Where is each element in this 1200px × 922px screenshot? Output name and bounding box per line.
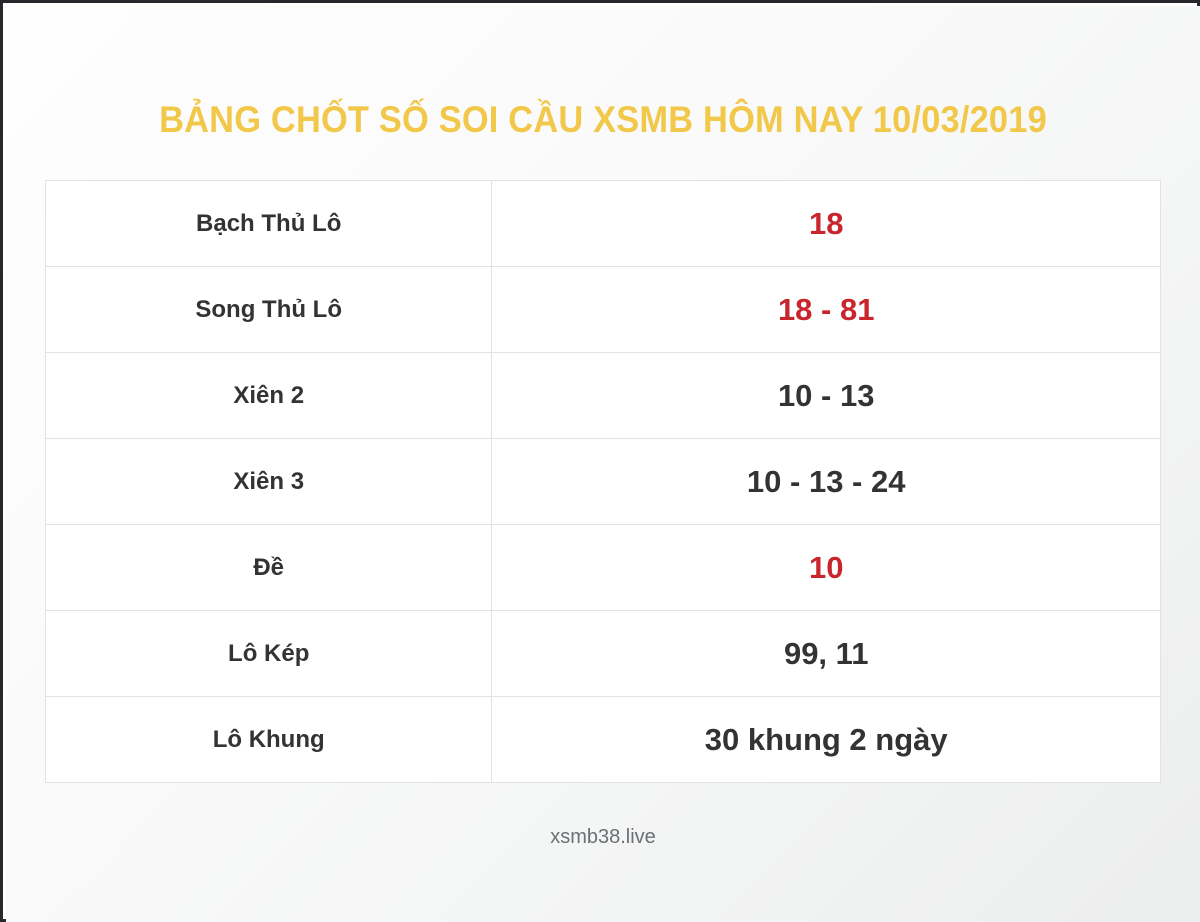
row-label: Xiên 2 — [233, 382, 304, 409]
row-label-cell: Xiên 3 — [46, 439, 492, 525]
row-value: 10 - 13 - 24 — [747, 464, 906, 499]
table-row: Đề10 — [46, 525, 1161, 611]
row-value: 18 — [809, 206, 843, 241]
row-value: 30 khung 2 ngày — [705, 722, 948, 757]
row-value-cell: 18 - 81 — [492, 267, 1161, 353]
row-label-cell: Lô Kép — [46, 611, 492, 697]
row-value-cell: 10 — [492, 525, 1161, 611]
row-value-cell: 18 — [492, 181, 1161, 267]
row-value-cell: 30 khung 2 ngày — [492, 697, 1161, 783]
source-watermark: xsmb38.live — [6, 826, 1200, 849]
content-area: BẢNG CHỐT SỐ SOI CẦU XSMB HÔM NAY 10/03/… — [6, 6, 1200, 922]
table-row: Bạch Thủ Lô18 — [46, 181, 1161, 267]
row-value-cell: 10 - 13 — [492, 353, 1161, 439]
row-label-cell: Lô Khung — [46, 697, 492, 783]
page-title: BẢNG CHỐT SỐ SOI CẦU XSMB HÔM NAY 10/03/… — [48, 99, 1158, 141]
row-label: Xiên 3 — [233, 468, 304, 495]
row-value-cell: 99, 11 — [492, 611, 1161, 697]
row-label-cell: Đề — [46, 525, 492, 611]
row-value: 10 — [809, 550, 843, 585]
row-label: Bạch Thủ Lô — [196, 210, 341, 237]
row-label-cell: Song Thủ Lô — [46, 267, 492, 353]
table-row: Song Thủ Lô18 - 81 — [46, 267, 1161, 353]
table-row: Lô Khung30 khung 2 ngày — [46, 697, 1161, 783]
chot-so-table: Bạch Thủ Lô18Song Thủ Lô18 - 81Xiên 210 … — [45, 180, 1161, 783]
row-value: 18 - 81 — [778, 292, 875, 327]
row-value: 99, 11 — [784, 636, 868, 671]
table-body: Bạch Thủ Lô18Song Thủ Lô18 - 81Xiên 210 … — [46, 181, 1161, 783]
row-value: 10 - 13 — [778, 378, 875, 413]
image-frame: BẢNG CHỐT SỐ SOI CẦU XSMB HÔM NAY 10/03/… — [0, 0, 1200, 922]
row-label: Lô Kép — [228, 640, 309, 667]
row-value-cell: 10 - 13 - 24 — [492, 439, 1161, 525]
row-label-cell: Xiên 2 — [46, 353, 492, 439]
row-label: Song Thủ Lô — [195, 296, 342, 323]
row-label: Lô Khung — [213, 726, 325, 753]
row-label: Đề — [253, 554, 284, 581]
table-row: Lô Kép99, 11 — [46, 611, 1161, 697]
page-canvas: BẢNG CHỐT SỐ SOI CẦU XSMB HÔM NAY 10/03/… — [6, 6, 1200, 922]
row-label-cell: Bạch Thủ Lô — [46, 181, 492, 267]
table-row: Xiên 310 - 13 - 24 — [46, 439, 1161, 525]
table-row: Xiên 210 - 13 — [46, 353, 1161, 439]
